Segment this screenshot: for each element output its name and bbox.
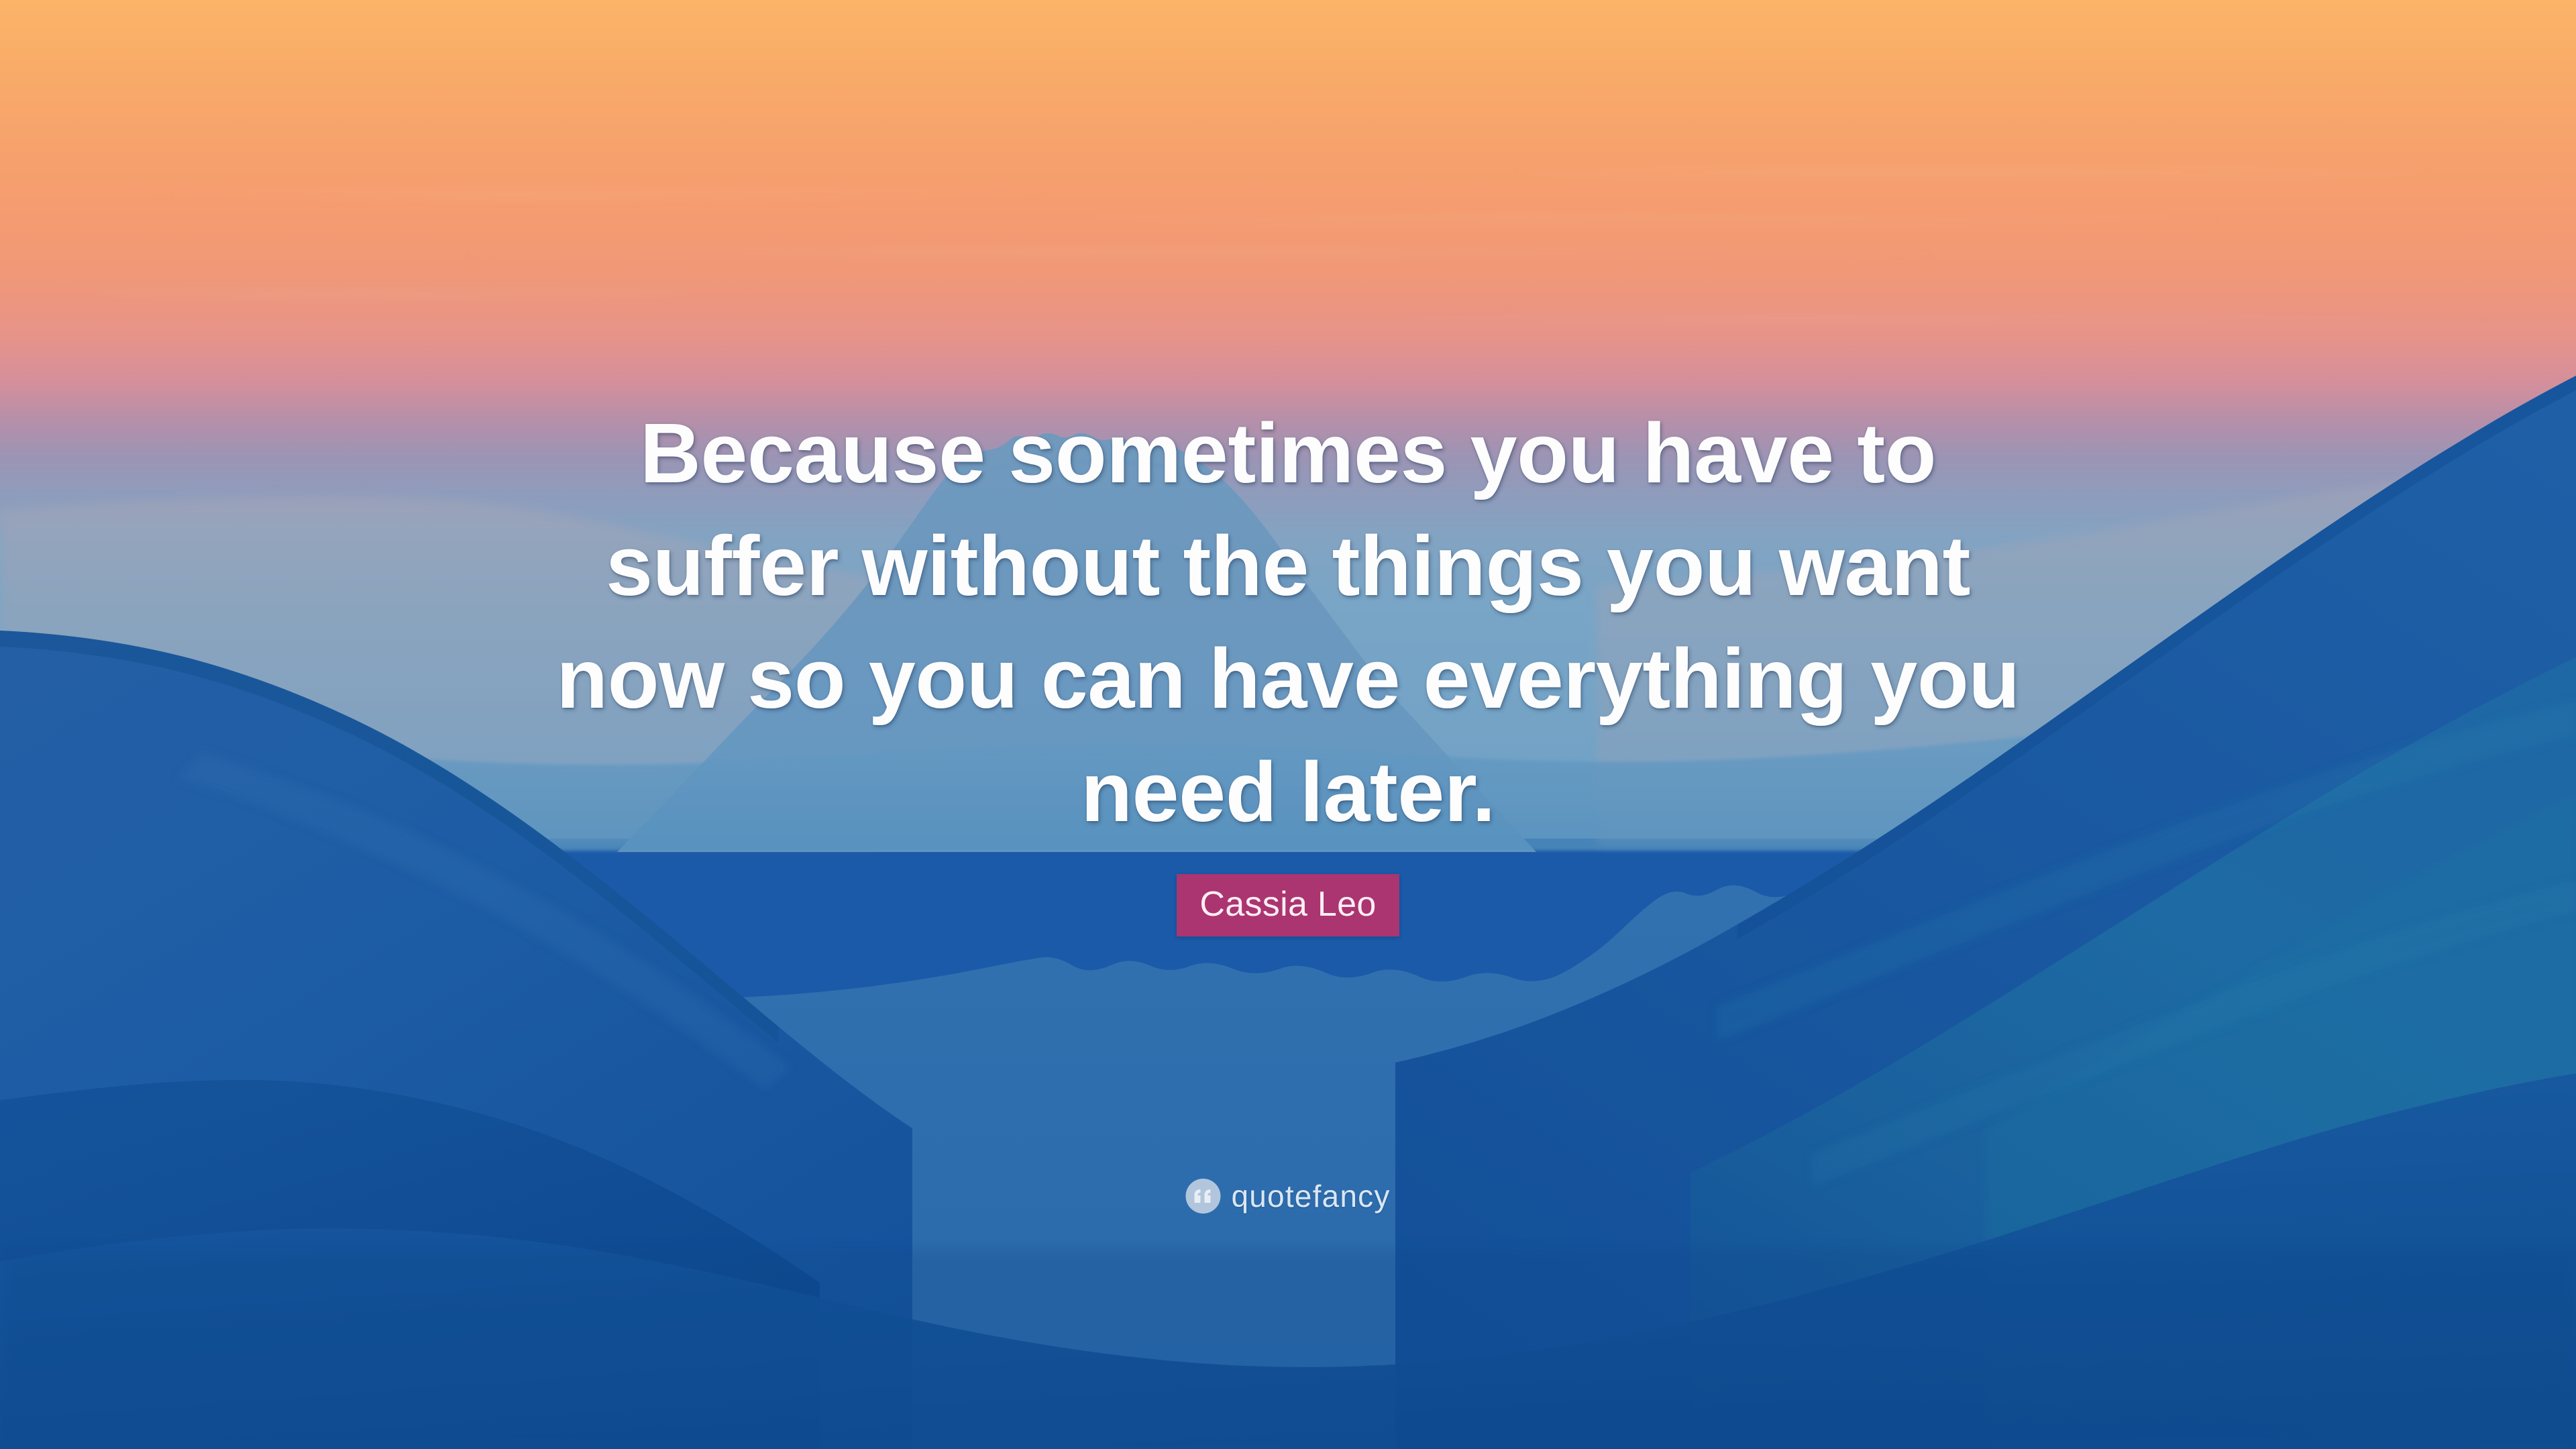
- quotefancy-brand-text: quotefancy: [1231, 1181, 1390, 1212]
- quotefancy-watermark[interactable]: quotefancy: [1185, 1179, 1390, 1214]
- bottom-vignette: [0, 1248, 2576, 1449]
- quote-text: Because sometimes you have to suffer wit…: [517, 397, 2059, 849]
- quote-poster: Because sometimes you have to suffer wit…: [0, 0, 2576, 1449]
- quote-mark-icon: [1185, 1179, 1220, 1214]
- author-badge: Cassia Leo: [1177, 874, 1399, 936]
- quote-block: Because sometimes you have to suffer wit…: [0, 0, 2576, 936]
